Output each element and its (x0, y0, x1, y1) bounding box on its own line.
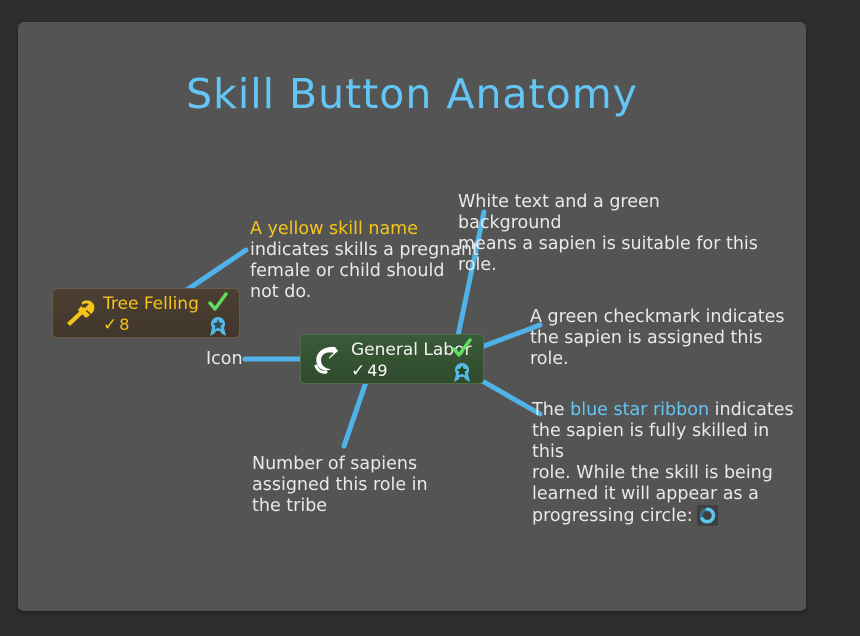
annotation-white-text-green-background: White text and a green background means … (458, 192, 768, 276)
annotation-green-checkmark: A green checkmark indicates the sapien i… (530, 307, 790, 370)
count-value: 8 (119, 315, 129, 334)
annotation-line-1: The blue star ribbon indicates (532, 400, 802, 421)
count-check-glyph: ✓ (351, 361, 365, 381)
annotation-blue-star-ribbon: The blue star ribbon indicates the sapie… (532, 400, 802, 527)
star-ribbon-icon (207, 315, 229, 337)
annotation-line: means a sapien is suitable for this role… (458, 234, 768, 276)
assigned-count: ✓49 (351, 361, 388, 381)
star-ribbon-icon (451, 361, 473, 383)
annotation-number-of-sapiens: Number of sapiens assigned this role in … (252, 454, 482, 517)
annotation-line: the tribe (252, 496, 482, 517)
annotation-line: the sapien is assigned this role. (530, 328, 790, 370)
annotation-line-5: progressing circle: (532, 505, 802, 527)
annotation-line: the sapien is fully skilled in this (532, 421, 802, 463)
annotation-line: assigned this role in (252, 475, 482, 496)
page-title: Skill Button Anatomy (18, 70, 806, 118)
skill-button-general-labor[interactable]: General Labor ✓49 (300, 334, 484, 384)
annotation-line: role. While the skill is being (532, 463, 802, 484)
annotation-line: A green checkmark indicates (530, 307, 790, 328)
annotation-line: Number of sapiens (252, 454, 482, 475)
annotation-line: indicates skills a pregnant (250, 240, 480, 261)
annotation-text: The (532, 400, 570, 420)
annotation-line: learned it will appear as a (532, 484, 802, 505)
screenshot-frame: Skill Button Anatomy (0, 0, 860, 636)
count-value: 49 (367, 361, 387, 380)
axe-icon (61, 296, 97, 332)
progressing-circle-icon (697, 505, 718, 526)
annotation-text: indicates (709, 400, 794, 420)
annotation-highlight-text: A yellow skill name (250, 219, 480, 240)
skill-name-label: Tree Felling (103, 294, 199, 314)
annotation-text: progressing circle: (532, 506, 693, 526)
annotation-icon-label: Icon (206, 349, 243, 369)
skill-button-tree-felling[interactable]: Tree Felling ✓8 (52, 288, 240, 338)
annotation-highlight-text: blue star ribbon (570, 400, 709, 420)
sickle-icon (309, 342, 345, 378)
annotation-line: not do. (250, 282, 480, 303)
annotation-line: female or child should (250, 261, 480, 282)
assigned-count: ✓8 (103, 315, 129, 335)
assigned-checkmark-icon (451, 337, 473, 359)
content-panel: Skill Button Anatomy (18, 22, 806, 611)
annotation-line: White text and a green background (458, 192, 768, 234)
connector-count-note (344, 382, 366, 446)
annotation-yellow-skill-name: A yellow skill name indicates skills a p… (250, 219, 480, 303)
assigned-checkmark-icon (207, 291, 229, 313)
count-check-glyph: ✓ (103, 315, 117, 335)
